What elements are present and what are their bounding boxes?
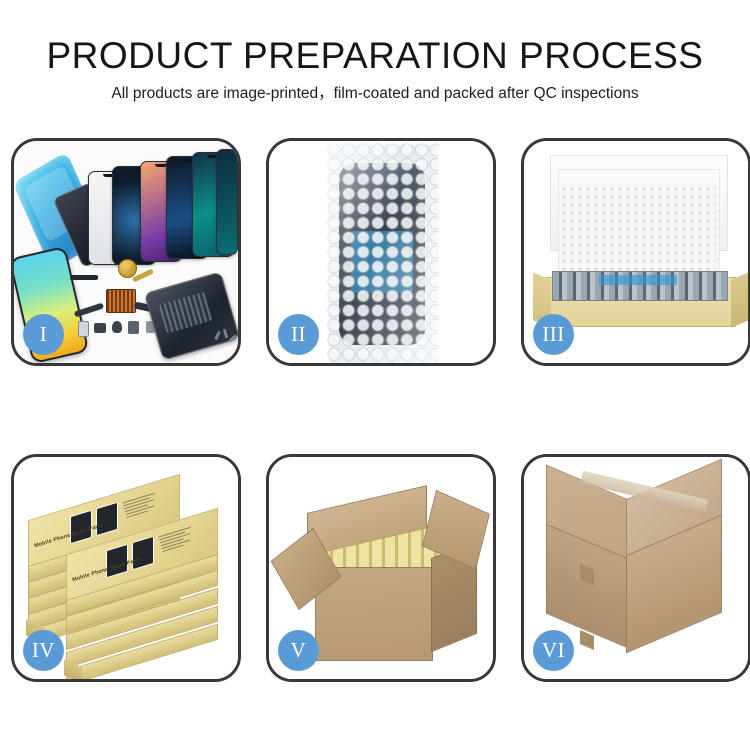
small-part-icon	[128, 321, 139, 334]
screws-icon	[216, 329, 238, 349]
process-step-6: VI	[521, 454, 750, 682]
step-badge-4: IV	[23, 630, 64, 671]
step-badge-3: III	[533, 314, 574, 355]
process-step-2: II	[266, 138, 496, 366]
page-subtitle: All products are image-printed，film-coat…	[0, 86, 750, 102]
speaker-part-icon	[118, 259, 137, 278]
process-step-1: I	[11, 138, 241, 366]
small-part-icon	[94, 323, 106, 333]
step-badge-6: VI	[533, 630, 574, 671]
ribbon-part-icon	[70, 275, 98, 280]
process-step-4: Mobile Phone Spare Parts	[11, 454, 241, 682]
packed-items-icon	[552, 271, 728, 301]
small-part-icon	[112, 321, 122, 333]
phone-screen-icon	[216, 149, 238, 255]
product-preparation-infographic: PRODUCT PREPARATION PROCESS All products…	[0, 0, 750, 750]
flex-cable-icon	[74, 303, 104, 318]
process-step-grid: I II III	[11, 138, 739, 682]
phone-screen-fan	[86, 149, 238, 267]
step-badge-5: V	[278, 630, 319, 671]
process-step-5: V	[266, 454, 496, 682]
process-step-3: III	[521, 138, 750, 366]
plastic-sheen	[327, 143, 439, 366]
connector-chip-icon	[106, 289, 136, 313]
small-part-icon	[78, 321, 89, 337]
page-title: PRODUCT PREPARATION PROCESS	[0, 37, 750, 74]
foam-sheet-icon	[560, 185, 716, 281]
step-badge-2: II	[278, 314, 319, 355]
step-badge-1: I	[23, 314, 64, 355]
